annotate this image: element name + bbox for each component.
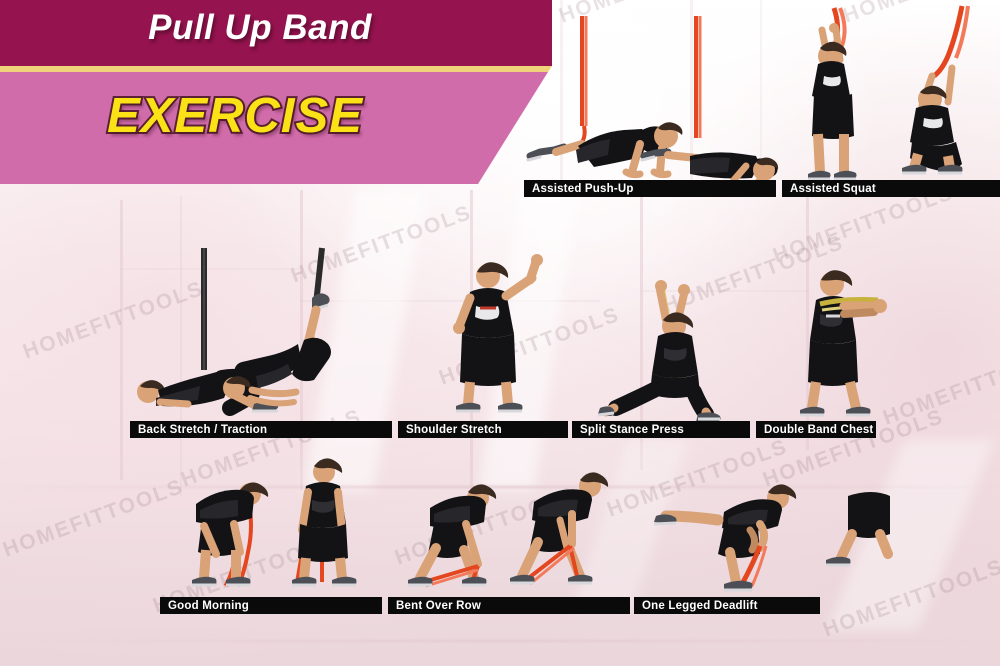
exercise-figure <box>598 280 721 422</box>
exercise-figure <box>192 482 268 586</box>
panel-bent-over-row <box>400 460 630 600</box>
exercise-figure <box>453 254 543 412</box>
caption-double-band-chest-press: Double Band Chest Press <box>756 421 876 438</box>
panel-split-stance-press <box>598 256 748 420</box>
banner-title: Pull Up Band <box>0 8 520 48</box>
exercise-figure <box>902 6 968 174</box>
exercise-figure <box>654 484 796 590</box>
banner-subtitle: EXERCISE <box>0 88 470 144</box>
exercise-figure <box>528 122 682 174</box>
banner-gold-rule <box>0 66 552 72</box>
poster-root: HOMEFITTOOLSHOMEFITTOOLSHOMEFITTOOLSHOME… <box>0 0 1000 666</box>
panel-back-stretch-traction <box>126 240 396 418</box>
panel-good-morning <box>178 452 378 600</box>
panel-shoulder-stretch <box>440 252 570 420</box>
caption-good-morning: Good Morning <box>160 597 382 614</box>
exercise-figure <box>223 293 331 403</box>
exercise-figure <box>292 458 357 586</box>
panel-one-legged-deadlift <box>640 468 890 600</box>
panel-double-band-chest-press <box>790 262 930 422</box>
caption-assisted-push-up: Assisted Push-Up <box>524 180 776 197</box>
panel-assisted-push-up <box>520 10 780 182</box>
floor-line <box>0 640 1000 642</box>
caption-one-legged-deadlift: One Legged Deadlift <box>634 597 820 614</box>
caption-split-stance-press: Split Stance Press <box>572 421 750 438</box>
resistance-band <box>934 6 962 76</box>
caption-back-stretch-traction: Back Stretch / Traction <box>130 421 392 438</box>
caption-bent-over-row: Bent Over Row <box>388 597 630 614</box>
exercise-figure-partial <box>826 492 890 566</box>
exercise-figure <box>408 484 496 586</box>
resistance-band <box>582 16 700 142</box>
exercise-figure <box>510 472 608 584</box>
panel-assisted-squat <box>790 4 1000 182</box>
caption-assisted-squat: Assisted Squat <box>782 180 1000 197</box>
caption-shoulder-stretch: Shoulder Stretch <box>398 421 568 438</box>
window-mullion <box>120 200 123 480</box>
exercise-figure <box>808 8 857 179</box>
exercise-figure <box>800 270 887 416</box>
